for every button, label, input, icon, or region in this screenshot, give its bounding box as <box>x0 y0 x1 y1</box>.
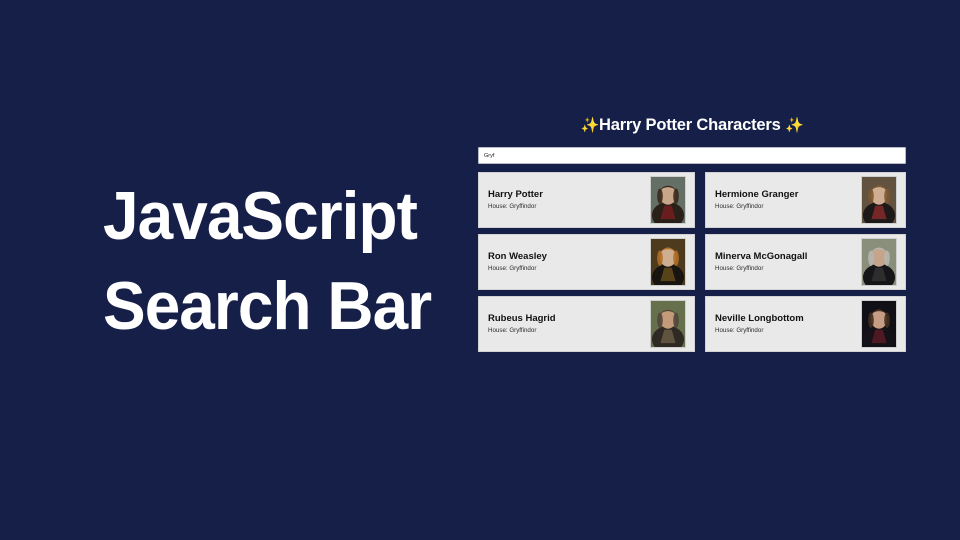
neville-longbottom-portrait <box>861 300 897 348</box>
minerva-mcgonagall-portrait <box>861 238 897 286</box>
character-house: House: Gryffindor <box>715 325 804 336</box>
search-app-panel: ✨Harry Potter Characters ✨ Harry Potter … <box>478 112 906 352</box>
character-card-4[interactable]: Minerva McGonagall House: Gryffindor <box>705 234 906 290</box>
character-name: Hermione Granger <box>715 188 798 201</box>
character-card-2[interactable]: Hermione Granger House: Gryffindor <box>705 172 906 228</box>
page-title-line-2: Search Bar <box>103 262 460 352</box>
page-title: JavaScript Search Bar <box>103 172 460 352</box>
character-name: Neville Longbottom <box>715 312 804 325</box>
character-card-text: Rubeus Hagrid House: Gryffindor <box>488 312 556 336</box>
sparkles-icon-left: ✨ <box>581 117 599 134</box>
character-name: Minerva McGonagall <box>715 250 807 263</box>
character-card-6[interactable]: Neville Longbottom House: Gryffindor <box>705 296 906 352</box>
ron-weasley-portrait <box>650 238 686 286</box>
character-card-text: Neville Longbottom House: Gryffindor <box>715 312 804 336</box>
sparkles-icon-right: ✨ <box>785 117 803 134</box>
character-card-3[interactable]: Ron Weasley House: Gryffindor <box>478 234 695 290</box>
character-card-text: Ron Weasley House: Gryffindor <box>488 250 547 274</box>
search-input[interactable] <box>478 147 906 164</box>
hermione-granger-portrait <box>861 176 897 224</box>
character-results-grid: Harry Potter House: Gryffindor Hermione … <box>478 172 906 352</box>
character-name: Harry Potter <box>488 188 543 201</box>
character-name: Rubeus Hagrid <box>488 312 556 325</box>
character-house: House: Gryffindor <box>488 325 556 336</box>
character-card-text: Minerva McGonagall House: Gryffindor <box>715 250 807 274</box>
page-title-line-1: JavaScript <box>103 172 460 262</box>
character-house: House: Gryffindor <box>488 201 543 212</box>
harry-potter-portrait <box>650 176 686 224</box>
character-house: House: Gryffindor <box>715 263 807 274</box>
app-heading-text: Harry Potter Characters <box>599 116 781 134</box>
character-name: Ron Weasley <box>488 250 547 263</box>
character-house: House: Gryffindor <box>488 263 547 274</box>
character-card-1[interactable]: Harry Potter House: Gryffindor <box>478 172 695 228</box>
character-card-5[interactable]: Rubeus Hagrid House: Gryffindor <box>478 296 695 352</box>
search-bar <box>478 147 906 164</box>
character-card-text: Harry Potter House: Gryffindor <box>488 188 543 212</box>
character-card-text: Hermione Granger House: Gryffindor <box>715 188 798 212</box>
character-house: House: Gryffindor <box>715 201 798 212</box>
app-heading: ✨Harry Potter Characters ✨ <box>478 112 906 139</box>
rubeus-hagrid-portrait <box>650 300 686 348</box>
